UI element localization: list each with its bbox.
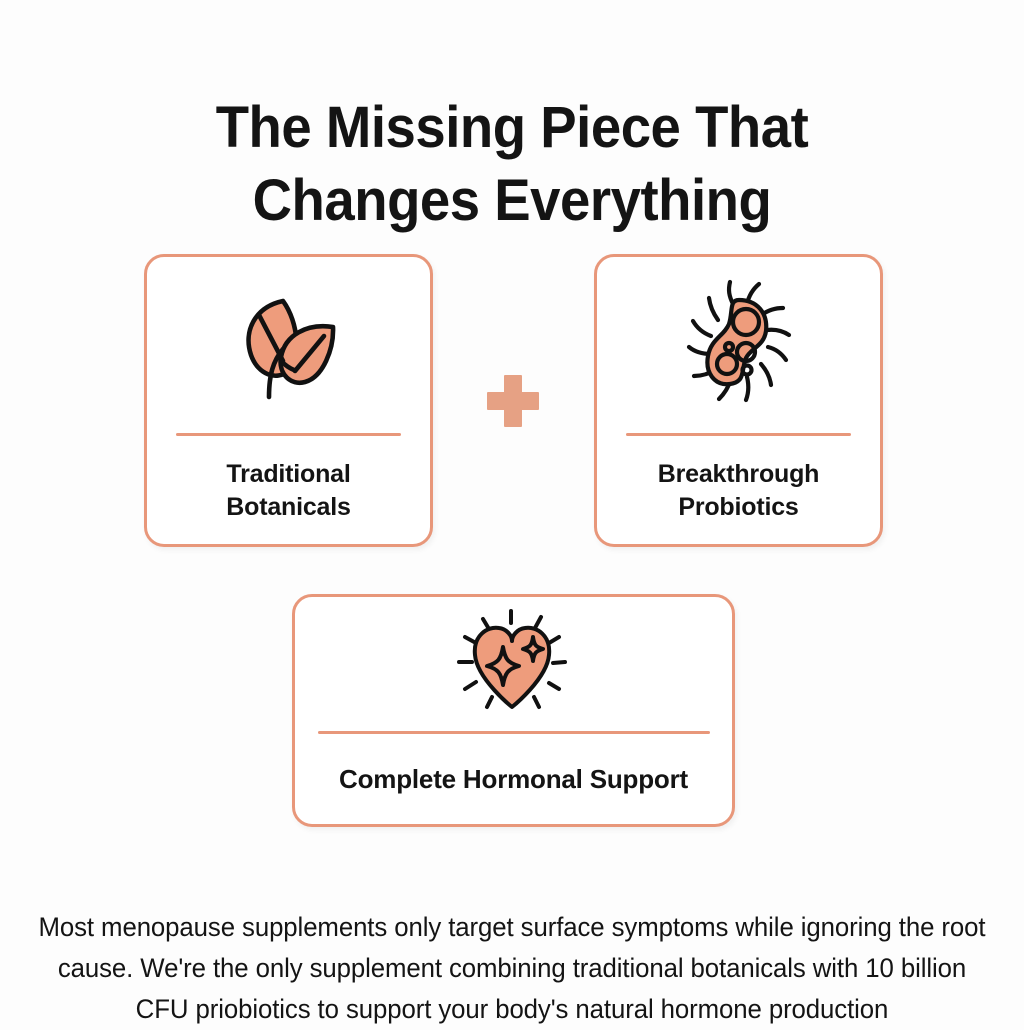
card-label-line-1: Complete Hormonal Support bbox=[339, 764, 688, 794]
plus-icon-vertical-bar bbox=[504, 375, 522, 427]
card-label-line-1: Traditional bbox=[226, 460, 350, 488]
card-label: Traditional Botanicals bbox=[218, 458, 358, 525]
card-label-line-1: Breakthrough bbox=[658, 460, 820, 488]
card-divider bbox=[626, 433, 851, 436]
card-complete-hormonal-support[interactable]: Complete Hormonal Support bbox=[292, 594, 735, 827]
card-breakthrough-probiotics[interactable]: Breakthrough Probiotics bbox=[594, 254, 883, 547]
card-icon-container bbox=[597, 257, 880, 433]
bacteria-icon bbox=[675, 274, 803, 417]
page-title-line-1: The Missing Piece That bbox=[31, 91, 994, 164]
plus-icon bbox=[487, 375, 539, 427]
card-divider bbox=[176, 433, 401, 436]
card-icon-container bbox=[147, 257, 430, 433]
card-label: Complete Hormonal Support bbox=[331, 762, 696, 797]
card-label-line-2: Probiotics bbox=[678, 493, 798, 521]
card-traditional-botanicals[interactable]: Traditional Botanicals bbox=[144, 254, 433, 547]
sparkling-heart-icon bbox=[449, 603, 579, 726]
body-paragraph: Most menopause supplements only target s… bbox=[23, 907, 1001, 1030]
card-divider bbox=[318, 731, 710, 734]
card-label: Breakthrough Probiotics bbox=[650, 458, 828, 525]
card-label-line-2: Botanicals bbox=[226, 493, 350, 521]
leaves-icon bbox=[225, 279, 353, 412]
page-title: The Missing Piece That Changes Everythin… bbox=[31, 91, 994, 237]
card-icon-container bbox=[295, 597, 732, 731]
page-title-line-2: Changes Everything bbox=[31, 164, 994, 237]
infographic-page: The Missing Piece That Changes Everythin… bbox=[0, 0, 1024, 1024]
